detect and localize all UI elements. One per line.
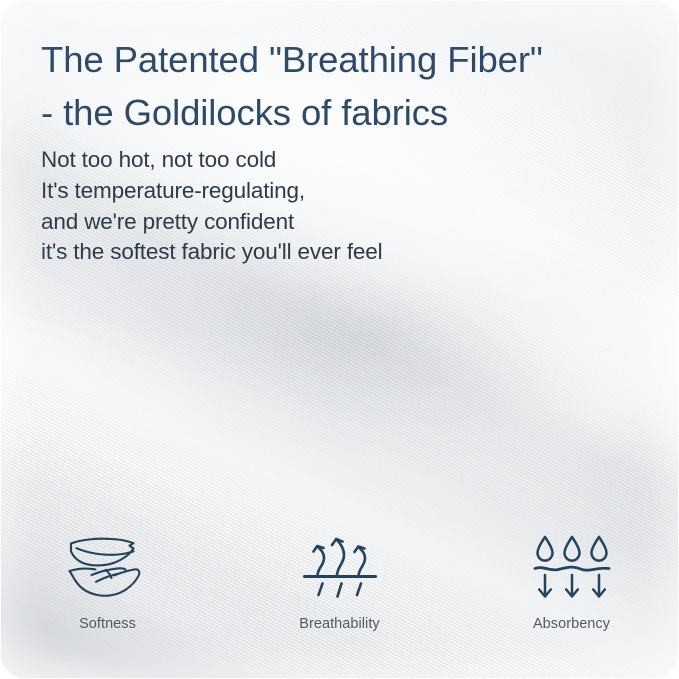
feature-breathability: Breathability [276,534,404,633]
air-flow-arrows-icon [303,534,377,600]
headline: The Patented "Breathing Fiber" - the Gol… [41,33,653,139]
product-feature-banner: The Patented "Breathing Fiber" - the Gol… [0,0,679,679]
feature-label: Softness [79,616,136,633]
subcopy: Not too hot, not too cold It's temperatu… [41,145,541,268]
feature-absorbency: Absorbency [508,534,636,633]
banner-content: The Patented "Breathing Fiber" - the Gol… [0,0,679,679]
feature-label: Absorbency [533,616,610,633]
feather-on-hand-icon [67,534,149,600]
water-drops-down-arrows-icon [532,534,612,600]
feature-label: Breathability [299,616,379,633]
feature-softness: Softness [44,534,172,633]
feature-list: Softness [0,534,679,633]
